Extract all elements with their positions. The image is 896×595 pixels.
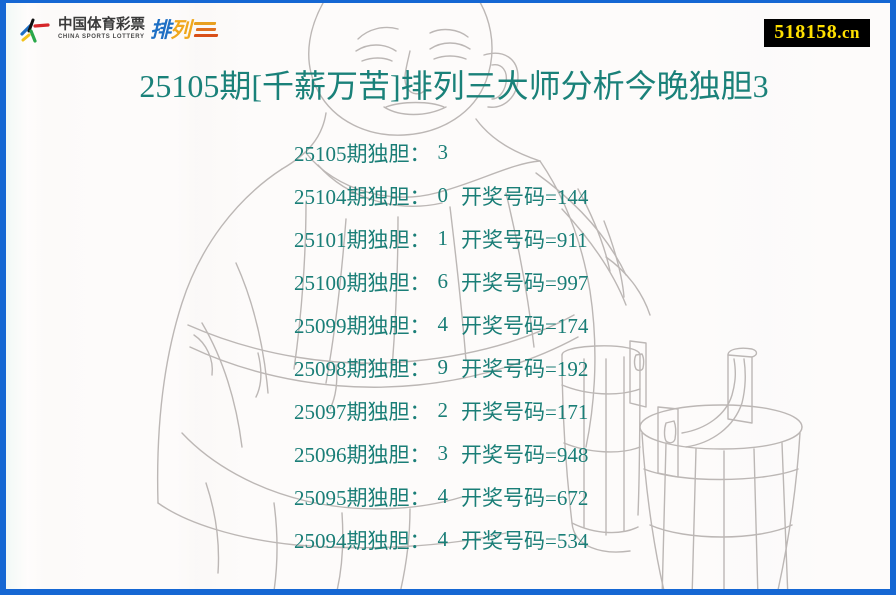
prediction-issue-label: 25100期独胆：: [294, 267, 431, 297]
game-char-san-bars: [194, 20, 218, 38]
prediction-dan-number: 0: [438, 183, 449, 208]
page-title: 25105期[千薪万苦]排列三大师分析今晚独胆3: [6, 61, 896, 107]
prediction-row: 25101期独胆：1开奖号码=911: [294, 217, 714, 260]
prediction-dan-number: 2: [438, 398, 449, 423]
game-name-pailie3: 排 列: [150, 16, 218, 42]
site-watermark: 518158.cn: [764, 19, 870, 47]
prediction-issue-label: 25104期独胆：: [294, 181, 431, 211]
prediction-row: 25104期独胆：0开奖号码=144: [294, 174, 714, 217]
prediction-dan-number: 1: [438, 226, 449, 251]
prediction-issue-label: 25096期独胆：: [294, 439, 431, 469]
prediction-list: 25105期独胆：325104期独胆：0开奖号码=14425101期独胆：1开奖…: [294, 131, 714, 561]
prediction-dan-number: 9: [438, 355, 449, 380]
prediction-dan-number: 3: [438, 441, 449, 466]
prediction-draw-result: 开奖号码=911: [461, 224, 588, 254]
prediction-issue-label: 25097期独胆：: [294, 396, 431, 426]
prediction-draw-result: 开奖号码=144: [461, 181, 588, 211]
prediction-dan-number: 4: [438, 527, 449, 552]
prediction-issue-label: 25098期独胆：: [294, 353, 431, 383]
prediction-row: 25094期独胆：4开奖号码=534: [294, 518, 714, 561]
china-sports-lottery-logo-icon: [20, 14, 54, 44]
prediction-draw-result: 开奖号码=174: [461, 310, 588, 340]
lottery-prediction-page: 中国体育彩票 CHINA SPORTS LOTTERY 排 列 518158.c…: [0, 0, 896, 595]
prediction-draw-result: 开奖号码=192: [461, 353, 588, 383]
prediction-row: 25098期独胆：9开奖号码=192: [294, 346, 714, 389]
prediction-issue-label: 25101期独胆：: [294, 224, 431, 254]
prediction-draw-result: 开奖号码=997: [461, 267, 588, 297]
prediction-row: 25099期独胆：4开奖号码=174: [294, 303, 714, 346]
prediction-draw-result: 开奖号码=948: [461, 439, 588, 469]
site-logo: 中国体育彩票 CHINA SPORTS LOTTERY 排 列: [20, 12, 218, 46]
prediction-issue-label: 25099期独胆：: [294, 310, 431, 340]
prediction-draw-result: 开奖号码=672: [461, 482, 588, 512]
logo-text-block: 中国体育彩票 CHINA SPORTS LOTTERY: [58, 18, 145, 41]
prediction-row: 25100期独胆：6开奖号码=997: [294, 260, 714, 303]
prediction-dan-number: 6: [438, 269, 449, 294]
prediction-row: 25105期独胆：3: [294, 131, 714, 174]
prediction-row: 25095期独胆：4开奖号码=672: [294, 475, 714, 518]
prediction-dan-number: 4: [438, 312, 449, 337]
prediction-row: 25096期独胆：3开奖号码=948: [294, 432, 714, 475]
prediction-dan-number: 4: [438, 484, 449, 509]
logo-en-name: CHINA SPORTS LOTTERY: [58, 34, 145, 40]
watermark-site: 518158: [774, 21, 837, 43]
prediction-issue-label: 25105期独胆：: [294, 138, 431, 168]
prediction-draw-result: 开奖号码=534: [461, 525, 588, 555]
prediction-issue-label: 25094期独胆：: [294, 525, 431, 555]
game-char-lie: 列: [170, 14, 191, 44]
prediction-row: 25097期独胆：2开奖号码=171: [294, 389, 714, 432]
prediction-draw-result: 开奖号码=171: [461, 396, 588, 426]
prediction-dan-number: 3: [438, 140, 449, 165]
prediction-issue-label: 25095期独胆：: [294, 482, 431, 512]
logo-cn-name: 中国体育彩票: [58, 18, 145, 33]
game-char-pai: 排: [150, 14, 171, 44]
watermark-tld: .cn: [837, 23, 860, 42]
